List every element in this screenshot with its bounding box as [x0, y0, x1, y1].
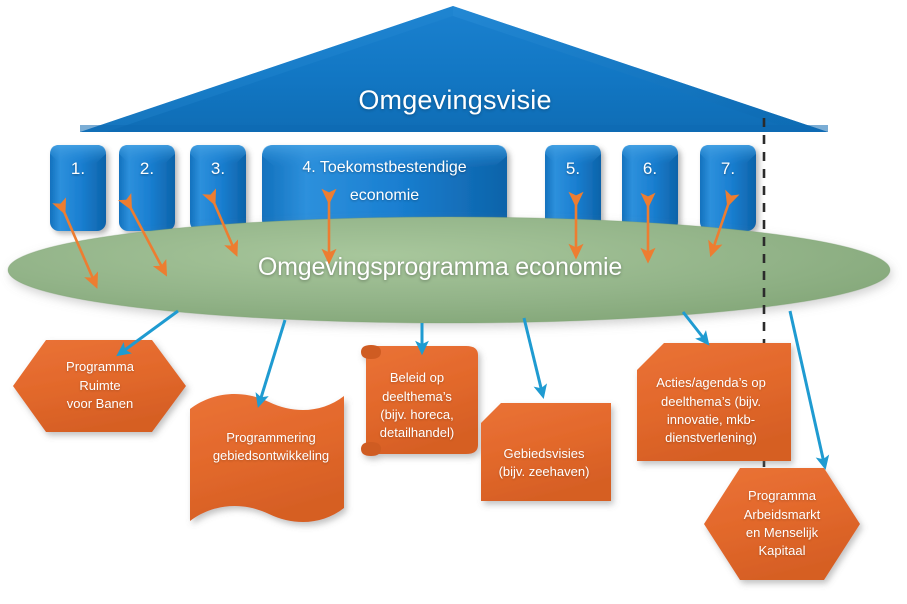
- line: Arbeidsmarkt: [744, 506, 821, 524]
- arrow-pillar-3: [212, 198, 234, 249]
- programma-arbeidsmarkt-label: Programma Arbeidsmarkt en Menselijk Kapi…: [712, 483, 852, 565]
- pillar-7-shape: [700, 145, 756, 231]
- pillar-1-label: 1.: [50, 158, 106, 180]
- diagram-artwork: [0, 0, 907, 604]
- line: Programmering: [226, 429, 316, 447]
- arrow-pillar-1: [62, 207, 94, 281]
- pillar-4-label: 4. Toekomstbestendige economie: [262, 156, 507, 208]
- gebiedsvisies-label: Gebiedsvisies (bijv. zeehaven): [478, 440, 610, 486]
- arrow-pillar-2: [128, 203, 163, 269]
- roof-shape: [80, 6, 828, 132]
- pillar-4-shape: [262, 145, 507, 231]
- connector-to-ruimte: [122, 311, 178, 352]
- programma-arbeidsmarkt-shape: [704, 468, 860, 580]
- connector-to-arbeid: [790, 311, 824, 463]
- pillar-4-label-line1: 4. Toekomstbestendige: [302, 154, 466, 182]
- programma-ruimte-voor-banen-label: Programma Ruimte voor Banen: [30, 355, 170, 417]
- page-title: Omgevingsvisie: [205, 82, 705, 118]
- pillar-6-shape: [622, 145, 678, 231]
- foundation-label: Omgevingsprogramma economie: [180, 250, 700, 284]
- pillar-foundation-arrows: [62, 196, 730, 281]
- beleid-op-deelthemas-shape: [361, 345, 478, 456]
- line: deelthema’s (bijv.: [661, 393, 761, 411]
- line: dienstverlening): [665, 429, 757, 447]
- line: en Menselijk: [746, 524, 818, 542]
- foundation-ellipse: [8, 217, 890, 323]
- instrument-connectors: [122, 311, 824, 463]
- programmering-gebiedsontwikkeling-shape: [190, 394, 344, 522]
- pillar-group: [50, 145, 756, 231]
- beleid-op-deelthemas-label: Beleid op deelthema’s (bijv. horeca, det…: [358, 366, 476, 446]
- pillar-2-label: 2.: [119, 158, 175, 180]
- line: innovatie, mkb-: [667, 411, 755, 429]
- pillar-2-shape: [119, 145, 175, 231]
- gebiedsvisies-shape: [481, 403, 611, 501]
- pillar-3-shape: [190, 145, 246, 231]
- programmering-gebiedsontwikkeling-label: Programmering gebiedsontwikkeling: [196, 424, 346, 470]
- pillar-6-label: 6.: [622, 158, 678, 180]
- pillar-5-label: 5.: [545, 158, 601, 180]
- line: Beleid op: [390, 369, 444, 387]
- line: (bijv. zeehaven): [499, 463, 590, 481]
- line: detailhandel): [380, 424, 454, 442]
- pillar-1-shape: [50, 145, 106, 231]
- arrow-pillar-7: [713, 199, 730, 249]
- acties-agendas-label: Acties/agenda’s op deelthema’s (bijv. in…: [634, 370, 788, 452]
- line: voor Banen: [67, 395, 134, 413]
- line: Ruimte: [79, 377, 120, 395]
- line: Gebiedsvisies: [504, 445, 585, 463]
- line: deelthema’s: [382, 388, 452, 406]
- pillar-7-label: 7.: [700, 158, 756, 180]
- diagram-canvas: Omgevingsvisie Omgevingsprogramma econom…: [0, 0, 907, 604]
- connector-to-acties: [683, 312, 705, 340]
- programma-ruimte-voor-banen-shape: [13, 340, 186, 432]
- connector-to-gebied: [524, 318, 542, 392]
- pillar-3-label: 3.: [190, 158, 246, 180]
- pillar-5-shape: [545, 145, 601, 231]
- acties-agendas-shape: [637, 343, 791, 461]
- line: Programma: [748, 487, 816, 505]
- pillar-4-label-line2: economie: [350, 182, 419, 210]
- line: gebiedsontwikkeling: [213, 447, 329, 465]
- connector-to-program: [260, 320, 285, 401]
- line: Programma: [66, 358, 134, 376]
- line: (bijv. horeca,: [380, 406, 453, 424]
- line: Kapitaal: [759, 542, 806, 560]
- line: Acties/agenda’s op: [656, 374, 766, 392]
